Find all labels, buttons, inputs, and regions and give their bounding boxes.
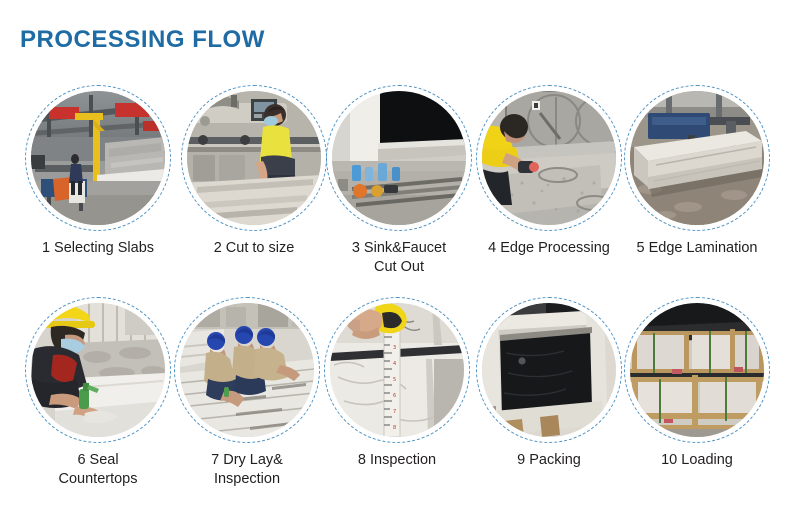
step-9-circle: [476, 297, 622, 443]
process-step-2[interactable]: 2 Cut to size: [181, 85, 327, 258]
process-step-10[interactable]: 10 Loading: [624, 297, 770, 470]
step-2-circle: [181, 85, 327, 231]
step-10-dashed-ring: [624, 297, 770, 443]
process-step-1[interactable]: 1 Selecting Slabs: [25, 85, 171, 258]
step-10-circle: [624, 297, 770, 443]
step-1-circle: [25, 85, 171, 231]
step-4-circle: [476, 85, 622, 231]
process-step-9[interactable]: 9 Packing: [476, 297, 622, 470]
process-step-8[interactable]: 34 56 78 8 Inspection: [324, 297, 470, 470]
step-8-circle: 34 56 78: [324, 297, 470, 443]
step-2-caption: 2 Cut to size: [181, 239, 327, 258]
step-10-caption: 10 Loading: [624, 451, 770, 470]
step-9-dashed-ring: [476, 297, 622, 443]
process-step-7[interactable]: 7 Dry Lay& Inspection: [174, 297, 320, 490]
step-8-dashed-ring: [324, 297, 470, 443]
step-3-circle: [326, 85, 472, 231]
process-step-3[interactable]: 3 Sink&Faucet Cut Out: [326, 85, 472, 278]
step-7-circle: [174, 297, 320, 443]
step-6-dashed-ring: [25, 297, 171, 443]
step-4-dashed-ring: [476, 85, 622, 231]
processing-flow-page: PROCESSING FLOW: [0, 0, 790, 520]
step-5-dashed-ring: [624, 85, 770, 231]
step-3-dashed-ring: [326, 85, 472, 231]
process-step-6[interactable]: 6 Seal Countertops: [25, 297, 171, 490]
step-3-caption: 3 Sink&Faucet Cut Out: [326, 239, 472, 278]
step-7-caption: 7 Dry Lay& Inspection: [174, 451, 320, 490]
step-1-caption: 1 Selecting Slabs: [25, 239, 171, 258]
step-6-circle: [25, 297, 171, 443]
step-4-caption: 4 Edge Processing: [476, 239, 622, 258]
step-8-caption: 8 Inspection: [324, 451, 470, 470]
page-title: PROCESSING FLOW: [20, 26, 265, 54]
step-5-caption: 5 Edge Lamination: [624, 239, 770, 258]
step-2-dashed-ring: [181, 85, 327, 231]
process-step-5[interactable]: 5 Edge Lamination: [624, 85, 770, 258]
process-step-4[interactable]: 4 Edge Processing: [476, 85, 622, 258]
step-5-circle: [624, 85, 770, 231]
step-9-caption: 9 Packing: [476, 451, 622, 470]
step-6-caption: 6 Seal Countertops: [25, 451, 171, 490]
step-1-dashed-ring: [25, 85, 171, 231]
step-7-dashed-ring: [174, 297, 320, 443]
